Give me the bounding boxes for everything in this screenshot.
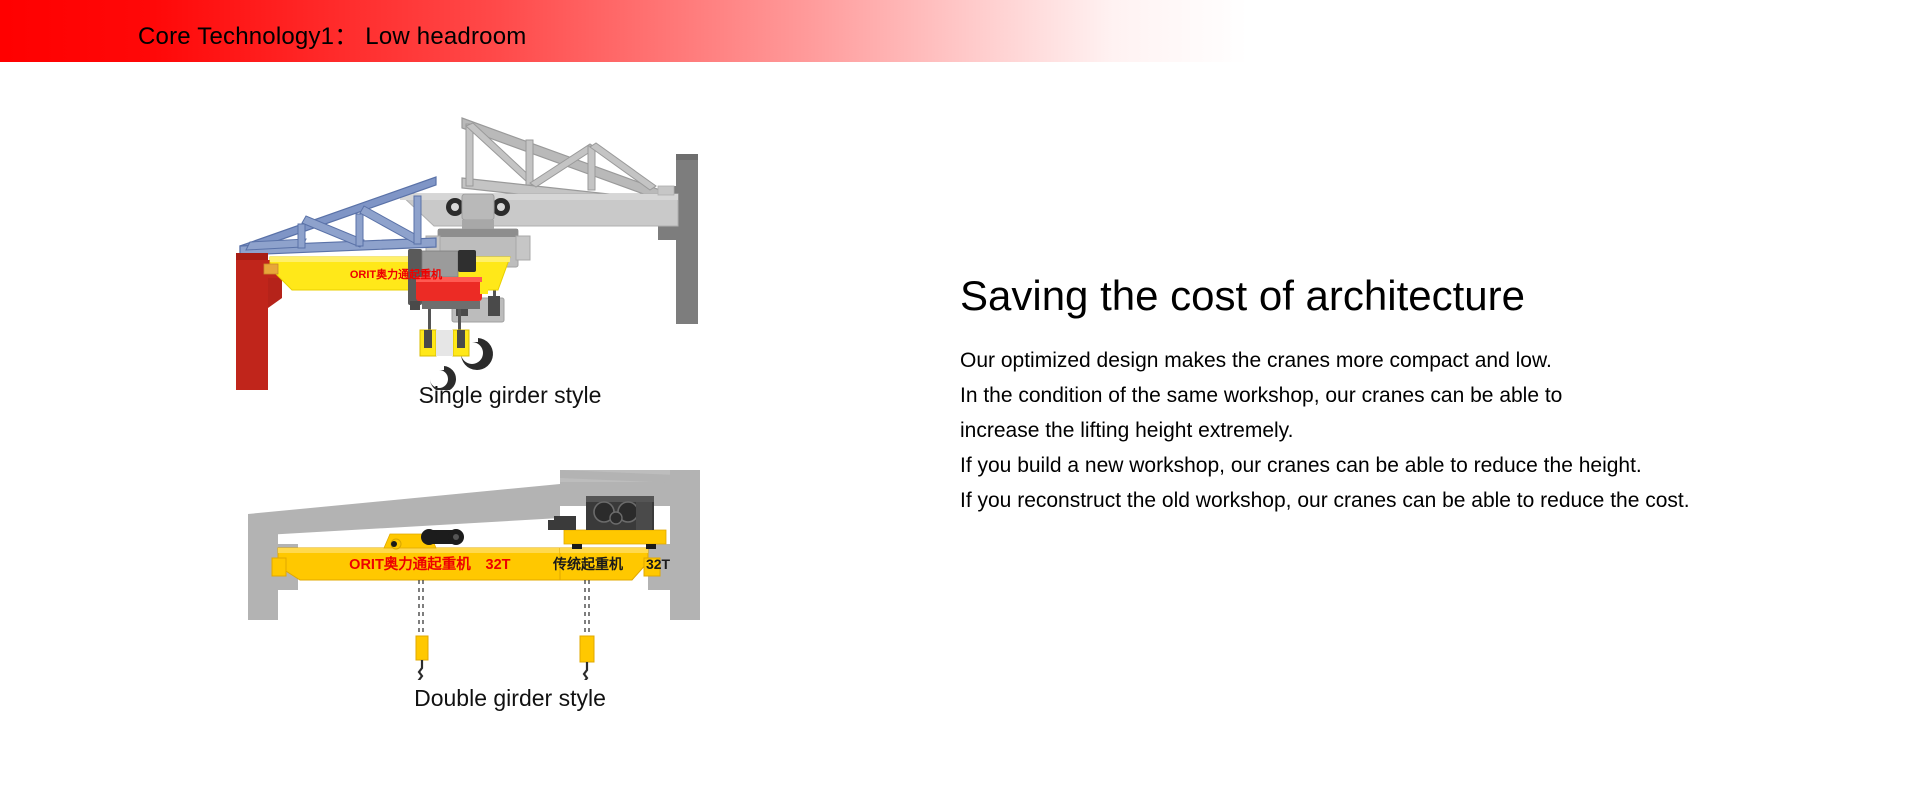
conventional-beam-label: 传统起重机 (552, 556, 623, 572)
body-line-4: If you build a new workshop, our cranes … (960, 448, 1860, 483)
figure-double-girder: ORIT奥力通起重机 32T 传统起重机 32T Double girder s… (230, 440, 870, 720)
orit-roof-truss (240, 177, 436, 255)
body-line-1: Our optimized design makes the cranes mo… (960, 343, 1860, 378)
single-girder-illustration (230, 90, 870, 390)
orit-beam-label: ORIT奥力通起重机 (349, 555, 471, 573)
page-title: Core Technology1： Low headroom (138, 16, 526, 51)
copy-block: Saving the cost of architecture Our opti… (960, 272, 1860, 518)
body-line-2: In the condition of the same workshop, o… (960, 378, 1860, 413)
header-banner: Core Technology1： Low headroom (0, 0, 1920, 62)
workshop-building (248, 470, 700, 620)
body-line-3: increase the lifting height extremely. (960, 413, 1860, 448)
orit-double-girder-beam (272, 529, 560, 680)
caption-single-girder: Single girder style (230, 382, 790, 409)
conventional-column (658, 154, 698, 324)
double-girder-illustration: ORIT奥力通起重机 32T 传统起重机 32T (230, 440, 870, 680)
headline: Saving the cost of architecture (960, 272, 1860, 319)
body-line-5: If you reconstruct the old workshop, our… (960, 483, 1860, 518)
figure-single-girder: Single girder style (230, 90, 870, 420)
conventional-beam-capacity: 32T (646, 556, 671, 572)
orit-beam-capacity: 32T (486, 557, 511, 573)
caption-double-girder: Double girder style (230, 685, 790, 712)
